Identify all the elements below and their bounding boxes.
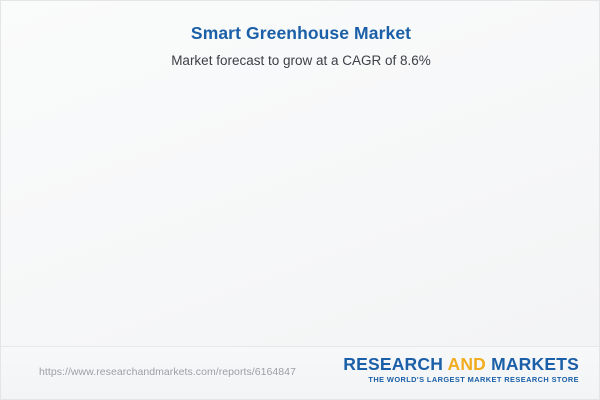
footer-bar: https://www.researchandmarkets.com/repor… xyxy=(1,346,600,399)
chart-plot-area: USD 3.04 billion 2025 USD 4.59 billion xyxy=(1,1,600,349)
market-infographic: Smart Greenhouse Market Market forecast … xyxy=(0,0,600,400)
brand-word-research: RESEARCH xyxy=(343,354,443,374)
source-url-link[interactable]: https://www.researchandmarkets.com/repor… xyxy=(39,366,296,378)
brand-tagline: THE WORLD'S LARGEST MARKET RESEARCH STOR… xyxy=(343,375,579,384)
brand-logo[interactable]: RESEARCH AND MARKETS THE WORLD'S LARGEST… xyxy=(343,355,579,384)
brand-name: RESEARCH AND MARKETS xyxy=(343,355,579,373)
brand-word-markets: MARKETS xyxy=(491,354,579,374)
brand-word-and: AND xyxy=(443,354,491,374)
